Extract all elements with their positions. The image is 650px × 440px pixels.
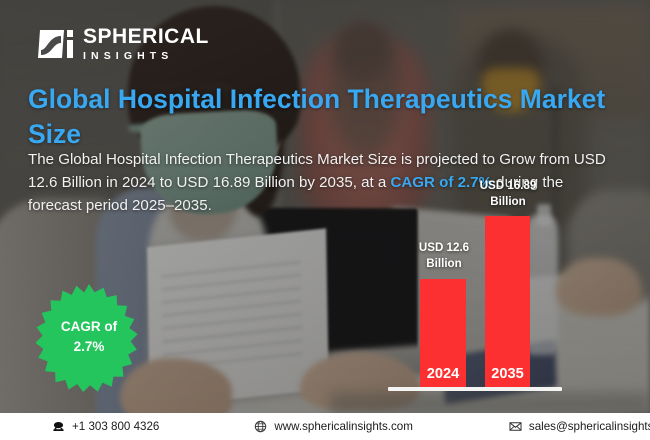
bar-value-label-2035: USD 16.89 Billion — [462, 178, 554, 209]
bar-value-label-2024-line2: Billion — [398, 256, 490, 272]
footer-phone[interactable]: +1 303 800 4326 — [52, 420, 159, 433]
footer-phone-text: +1 303 800 4326 — [72, 420, 159, 433]
brand-name: SPHERICAL — [83, 26, 209, 47]
brand-tagline: INSIGHTS — [83, 51, 209, 62]
bar-value-label-2024: USD 12.6 Billion — [398, 240, 490, 271]
page-title: Global Hospital Infection Therapeutics M… — [28, 82, 618, 152]
cagr-badge: CAGR of 2.7% — [34, 282, 144, 392]
spherical-insights-logo-icon — [38, 28, 74, 60]
bar-2035 — [485, 216, 530, 387]
market-size-infographic: SPHERICAL INSIGHTS Global Hospital Infec… — [0, 0, 650, 440]
bar-value-label-2024-line1: USD 12.6 — [398, 240, 490, 256]
envelope-icon — [509, 420, 522, 433]
starburst-icon — [34, 282, 144, 392]
footer-email-text: sales@sphericalinsights.com — [529, 420, 650, 433]
contact-footer: +1 303 800 4326 www.sphericalinsights.co… — [0, 413, 650, 440]
brand-wordmark: SPHERICAL INSIGHTS — [83, 26, 209, 62]
market-size-bar-chart: USD 16.89 Billion USD 12.6 Billion 2024 … — [380, 180, 580, 410]
footer-email[interactable]: sales@sphericalinsights.com — [509, 420, 650, 433]
telephone-icon — [52, 420, 65, 433]
globe-icon — [254, 420, 267, 433]
bar-value-label-2035-line1: USD 16.89 — [462, 178, 554, 194]
bar-value-label-2035-line2: Billion — [462, 194, 554, 210]
bar-category-label-2024: 2024 — [420, 367, 466, 382]
footer-website-text: www.sphericalinsights.com — [274, 420, 413, 433]
bar-category-label-2035: 2035 — [485, 367, 530, 382]
infographic-content: SPHERICAL INSIGHTS Global Hospital Infec… — [0, 0, 650, 440]
footer-website[interactable]: www.sphericalinsights.com — [254, 420, 413, 433]
chart-baseline-axis — [388, 387, 562, 391]
brand-logo: SPHERICAL INSIGHTS — [38, 26, 209, 62]
